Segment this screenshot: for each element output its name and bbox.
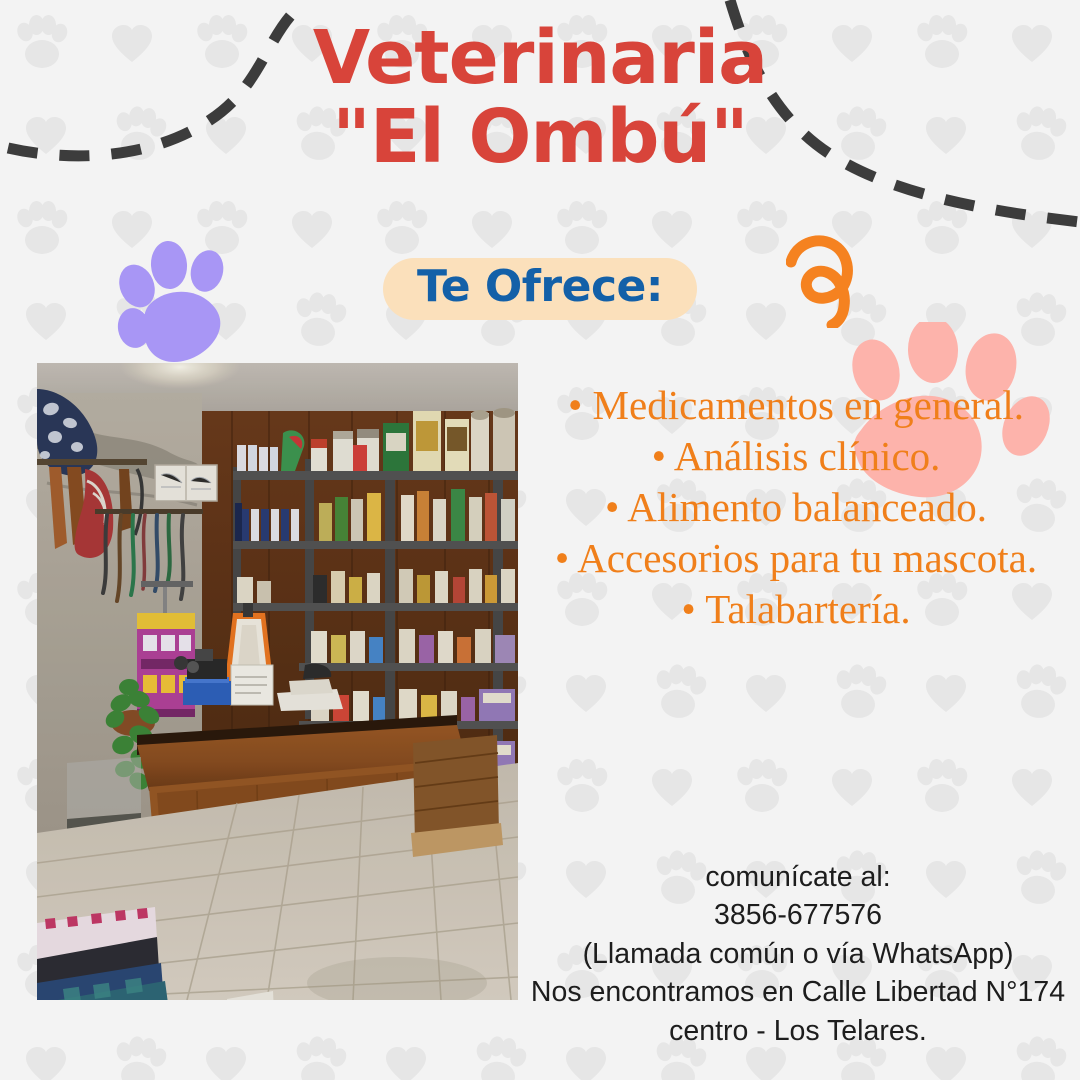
list-item: • Análisis clínico. (520, 433, 1072, 481)
list-item: • Medicamentos en general. (520, 382, 1072, 430)
offer-heading-wrap: Te Ofrece: (0, 258, 1080, 320)
contact-line-intro: comunícate al: (520, 858, 1076, 896)
services-list: • Medicamentos en general. • Análisis cl… (520, 382, 1072, 637)
list-item: • Accesorios para tu mascota. (520, 535, 1072, 583)
offer-badge: Te Ofrece: (383, 258, 697, 320)
offer-badge-label: Te Ofrece: (417, 261, 663, 312)
list-item: • Talabartería. (520, 586, 1072, 634)
contact-line-locality: centro - Los Telares. (520, 1012, 1076, 1050)
poster-canvas: Veterinaria "El Ombú" Te Ofrece: • Medic… (0, 0, 1080, 1080)
title-line-1: Veterinaria (313, 15, 767, 101)
list-item: • Alimento balanceado. (520, 484, 1072, 532)
contact-line-address: Nos encontramos en Calle Libertad N°174 (520, 973, 1076, 1011)
contact-block: comunícate al: 3856-677576 (Llamada comú… (520, 858, 1076, 1050)
store-interior-photo (37, 363, 518, 1000)
title-line-2: "El Ombú" (0, 101, 1080, 174)
page-title: Veterinaria "El Ombú" (0, 22, 1080, 173)
contact-phone-number[interactable]: 3856-677576 (520, 896, 1076, 934)
poster-header: Veterinaria "El Ombú" (0, 22, 1080, 173)
contact-line-whatsapp: (Llamada común o vía WhatsApp) (520, 935, 1076, 973)
